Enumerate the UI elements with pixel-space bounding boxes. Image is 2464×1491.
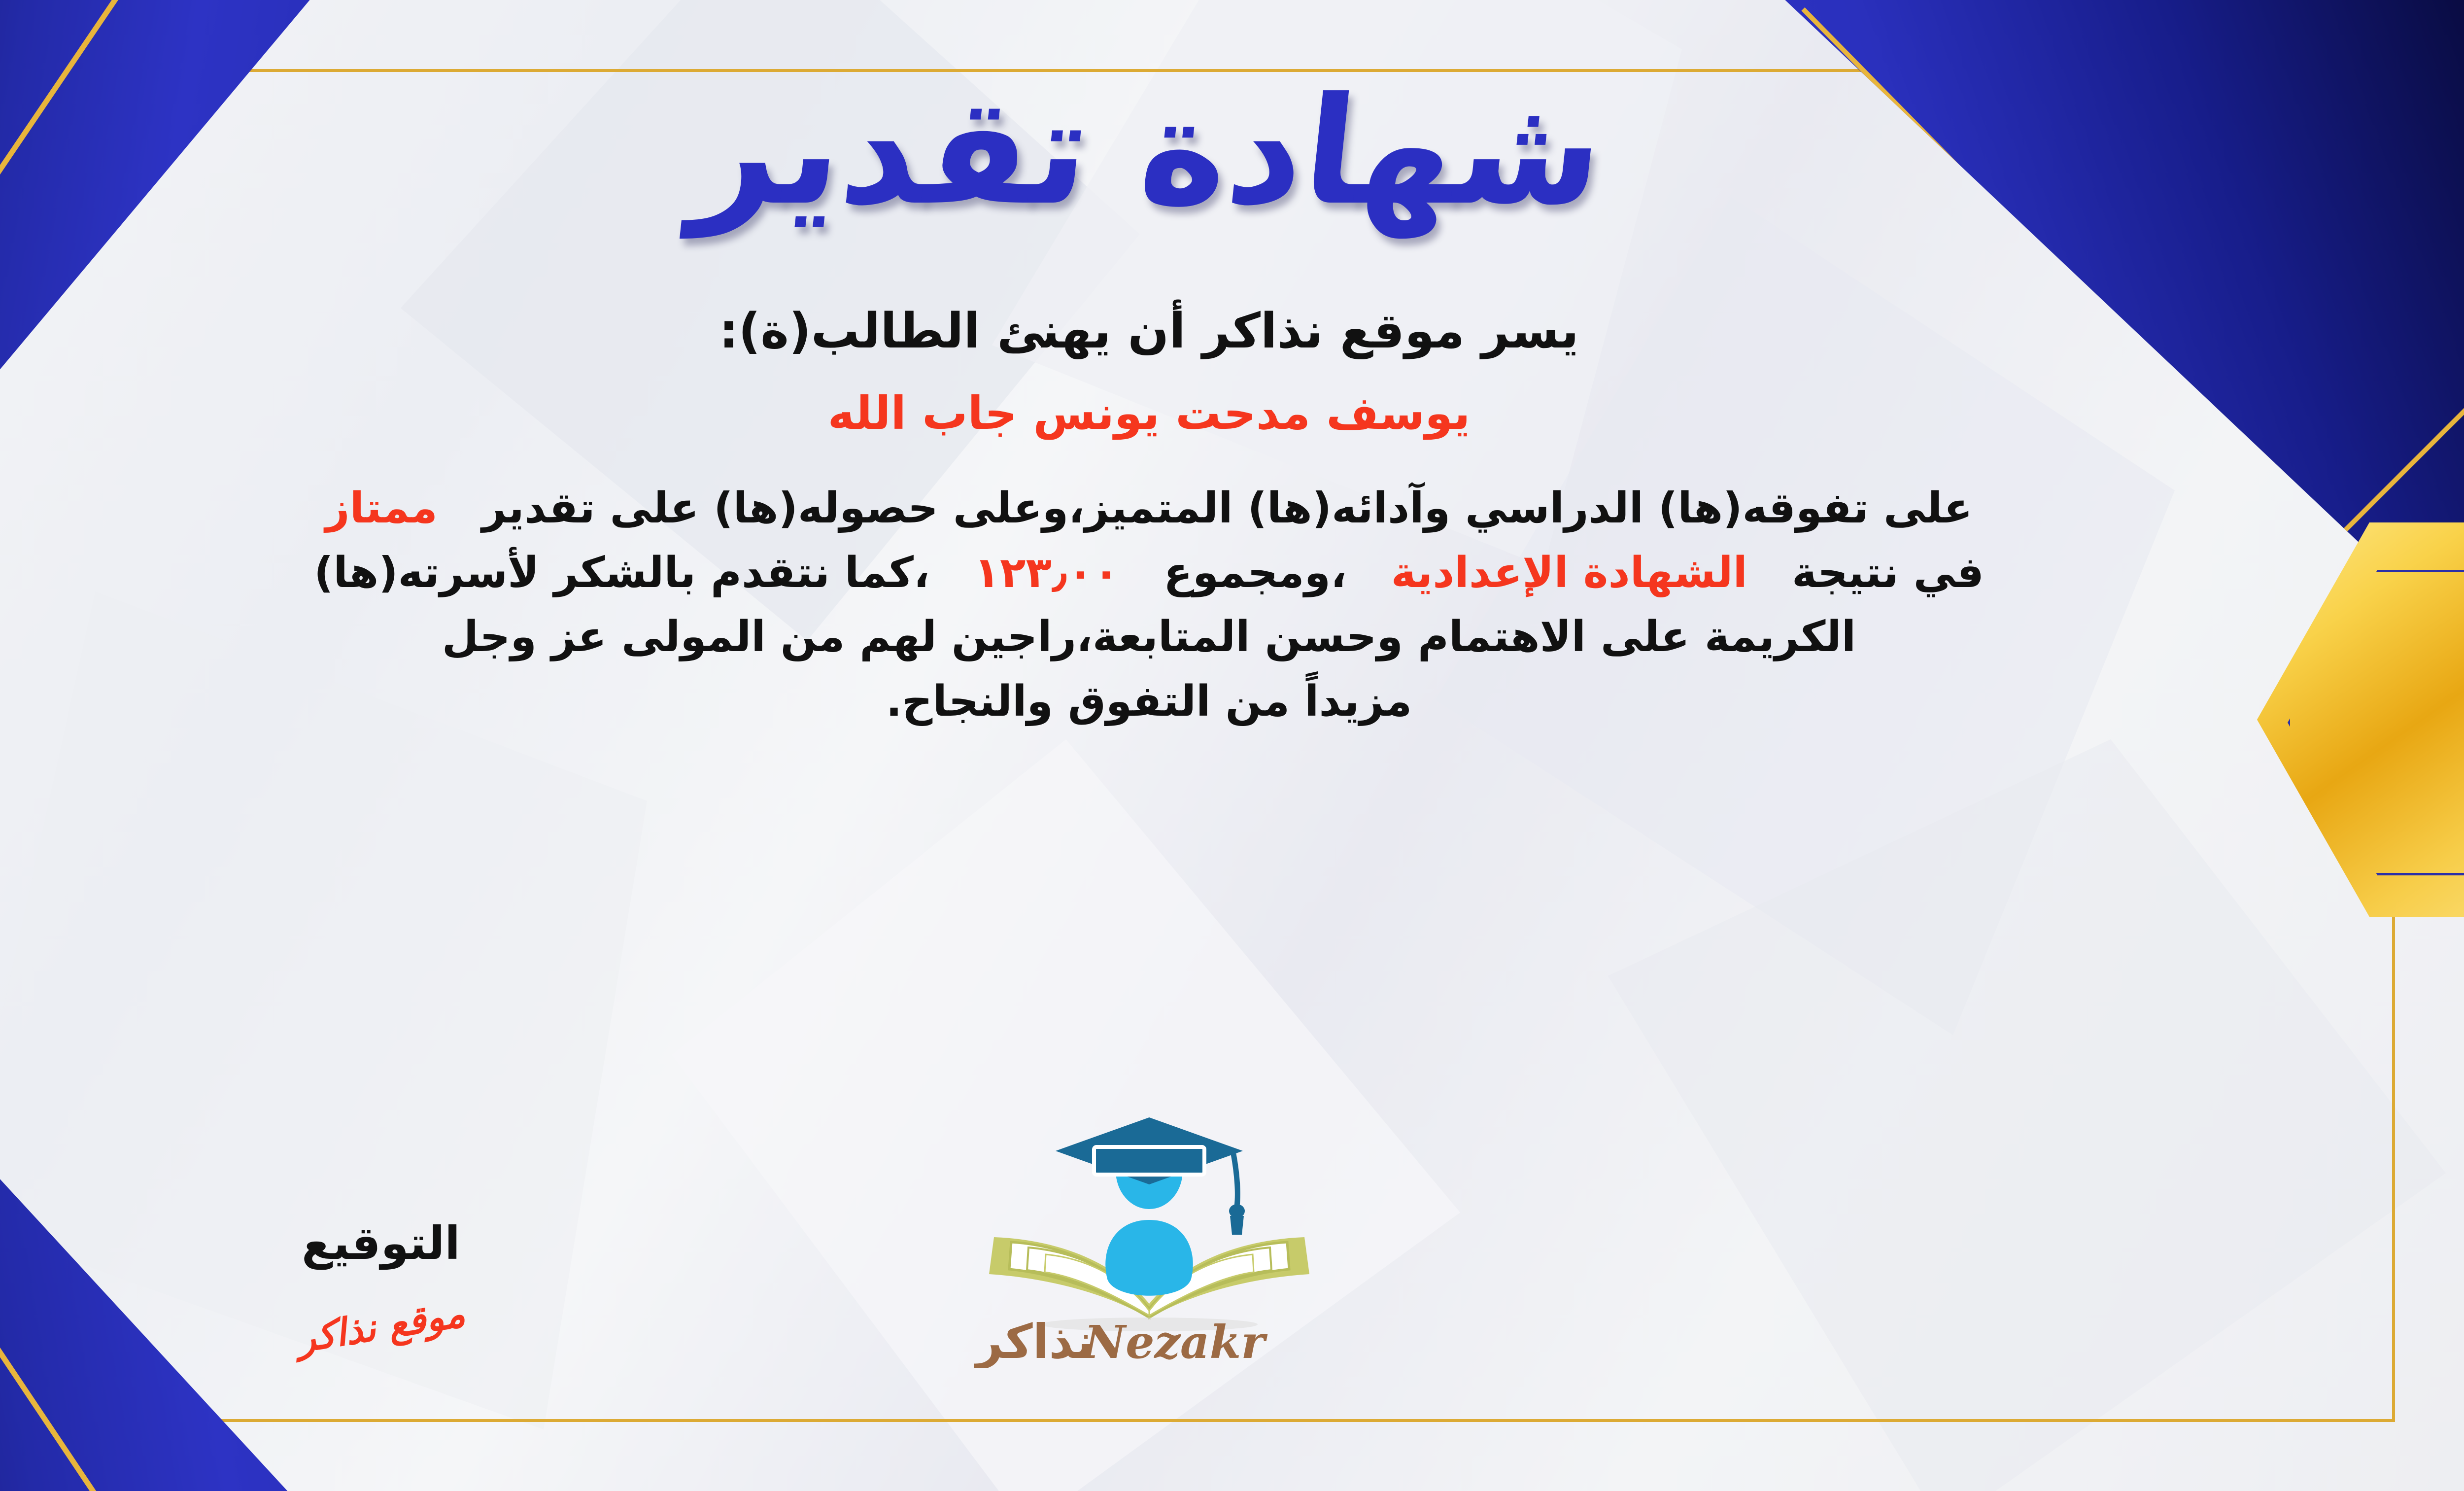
signature-block: التوقيع موقع نذاكر: [208, 1217, 553, 1348]
certificate-body: على تفوقه(ها) الدراسي وآدائه(ها) المتميز…: [16, 476, 2283, 734]
body-line-4-suffix: ،كما نتقدم بالشكر لأسرته(ها): [314, 548, 929, 597]
signature-label: التوقيع: [208, 1217, 553, 1270]
certificate-title: شهادة تقدير: [687, 74, 1611, 229]
body-line-6: مزيداً من التفوق والنجاح.: [16, 669, 2283, 734]
body-line-5: الكريمة على الاهتمام وحسن المتابعة،راجين…: [16, 605, 2283, 669]
body-line-4-prefix: في نتيجة: [1792, 548, 1984, 597]
certificate-footer: التوقيع موقع نذاكر: [0, 1116, 2464, 1432]
body-line-4-middle: ،ومجموع: [1164, 548, 1347, 597]
body-line-3-text: على تفوقه(ها) الدراسي وآدائه(ها) المتميز…: [482, 484, 1973, 533]
total-score: ١٢٣٫٠٠: [974, 548, 1120, 597]
logo-arabic-text: نذاكر: [974, 1314, 1094, 1368]
logo-latin-text: Nezakr: [1083, 1316, 1268, 1368]
body-line-4: في نتيجةالشهادة الإعدادية،ومجموع١٢٣٫٠٠،ك…: [16, 541, 2283, 605]
site-logo[interactable]: Nezakr نذاكر: [967, 1072, 1332, 1368]
exam-name: الشهادة الإعدادية: [1391, 548, 1747, 597]
grade-value: ممتاز: [325, 484, 438, 533]
intro-line: يسر موقع نذاكر أن يهنئ الطالب(ة):: [719, 303, 1579, 359]
certificate-canvas: شهادة تقدير يسر موقع نذاكر أن يهنئ الطال…: [0, 0, 2464, 1491]
body-line-3: على تفوقه(ها) الدراسي وآدائه(ها) المتميز…: [16, 476, 2283, 541]
graduate-book-logo-icon: Nezakr نذاكر: [967, 1072, 1332, 1368]
signature-script: موقع نذاكر: [294, 1291, 468, 1361]
student-name: يوسف مدحت يونس جاب الله: [828, 387, 1471, 440]
